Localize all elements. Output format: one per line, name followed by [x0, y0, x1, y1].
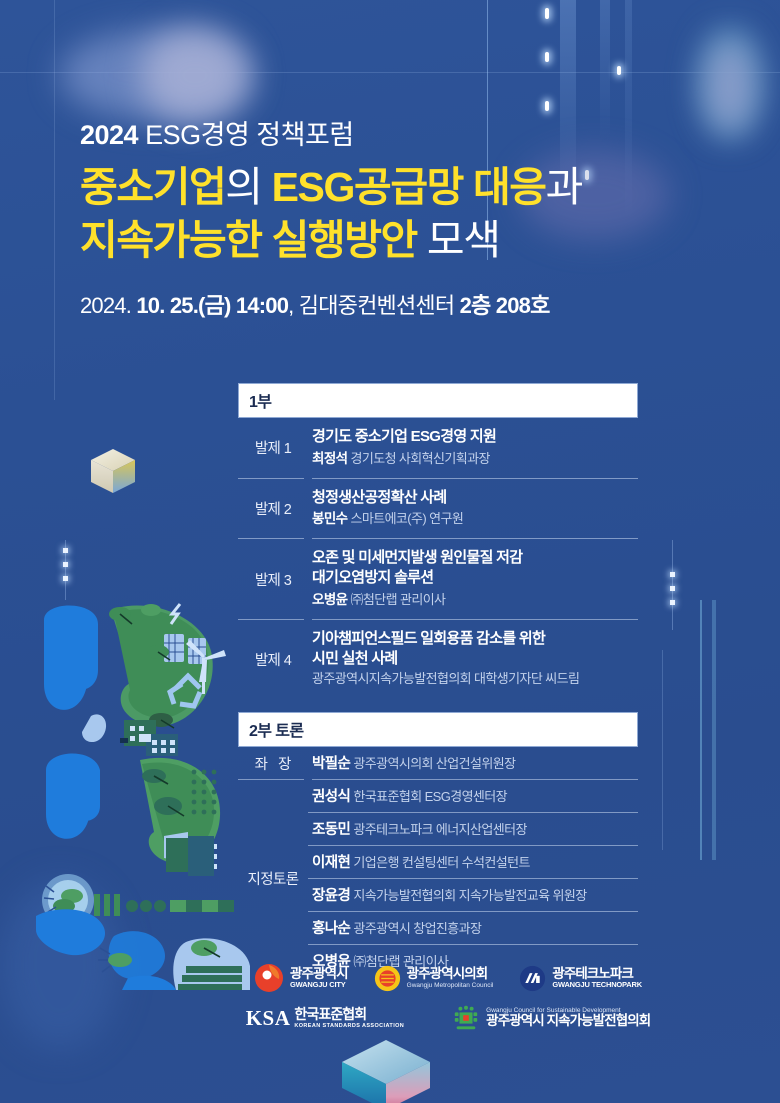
session-row: 발제 1 경기도 중소기업 ESG경영 지원 최정석 경기도청 사회혁신기획과장: [238, 418, 638, 478]
logo-name-en: KOREAN STANDARDS ASSOCIATION: [294, 1023, 404, 1029]
light-dot: [670, 572, 675, 577]
session-title: 청정생산공정확산 사례: [312, 488, 638, 508]
session-body: 경기도 중소기업 ESG경영 지원 최정석 경기도청 사회혁신기획과장: [308, 418, 638, 478]
session-label: 발제 2: [238, 498, 308, 519]
kicker-year: 2024: [80, 120, 138, 150]
logo-gwangju-council: 광주광역시의회 Gwangju Metropolitan Council: [374, 965, 494, 992]
session-label: 발제 1: [238, 437, 308, 458]
speaker-name: 봉민수: [312, 511, 347, 526]
panelist-affiliation: 광주테크노파크 에너지산업센터장: [353, 822, 526, 837]
session-title: 경기도 중소기업 ESG경영 지원: [312, 427, 638, 447]
logo-ksa: KSA 한국표준협회 KOREAN STANDARDS ASSOCIATION: [246, 1007, 404, 1028]
logo-name-kr: 광주광역시: [290, 967, 348, 982]
grid-line-vertical: [672, 540, 673, 630]
poster-root: 2024 ESG경영 정책포럼 중소기업의 ESG공급망 대응과 지속가능한 실…: [0, 0, 780, 1103]
grid-line-vertical: [662, 650, 663, 850]
eco-illustration: [36, 600, 251, 990]
chair-name: 박필순: [312, 756, 350, 772]
date-main: 10. 25.(금) 14:00: [136, 293, 288, 318]
grid-line-vertical: [65, 540, 66, 600]
poster-header: 2024 ESG경영 정책포럼 중소기업의 ESG공급망 대응과 지속가능한 실…: [80, 120, 720, 320]
chair-affiliation: 광주광역시의회 산업건설위원장: [353, 756, 515, 771]
logo-text-block: 광주광역시의회 Gwangju Metropolitan Council: [407, 967, 494, 989]
light-dot: [545, 52, 549, 62]
light-dot: [670, 586, 675, 591]
light-dot: [545, 8, 549, 19]
logo-name-en: Gwangju Metropolitan Council: [407, 982, 494, 989]
title-seg-1a: 중소기업: [80, 164, 225, 210]
grid-line-vertical: [54, 0, 55, 400]
panelist-name: 권성식: [312, 789, 350, 805]
panelist-row: 장윤경 지속가능발전협의회 지속가능발전교육 위원장: [308, 879, 638, 911]
soft-glow: [140, 28, 250, 123]
row-separator: [308, 911, 638, 912]
title-seg-2a: 지속가능한 실행방안: [80, 217, 417, 263]
gold-cube-icon: [86, 443, 140, 499]
speaker-name: 최정석: [312, 451, 347, 466]
session-body: 오존 및 미세먼지발생 원인물질 저감 대기오염방지 솔루션 오병윤 ㈜첨단랩 …: [308, 539, 638, 618]
soft-glow: [706, 40, 754, 132]
panelist-affiliation: 기업은행 컨설팅센터 수석컨설턴트: [353, 855, 529, 870]
session-body: 청정생산공정확산 사례 봉민수 스마트에코(주) 연구원: [308, 479, 638, 539]
panelist-affiliation: 광주광역시 창업진흥과장: [353, 921, 481, 936]
session-speaker: 오병윤 ㈜첨단랩 관리이사: [312, 591, 638, 609]
row-separator: [308, 944, 638, 945]
grid-line-vertical: [700, 600, 702, 860]
ksa-wordmark-icon: KSA 한국표준협회 KOREAN STANDARDS ASSOCIATION: [246, 1007, 404, 1028]
session-row: 발제 2 청정생산공정확산 사례 봉민수 스마트에코(주) 연구원: [238, 479, 638, 539]
logo-text-block: Gwangju Council for Sustainable Developm…: [486, 1007, 650, 1029]
panelist-row: 홍나순 광주광역시 창업진흥과장: [308, 912, 638, 944]
logo-row-secondary: KSA 한국표준협회 KOREAN STANDARDS ASSOCIATION: [238, 1004, 658, 1032]
title-seg-1b: 의: [225, 164, 261, 210]
logo-gwangju-technopark: 광주테크노파크 GWANGJU TECHNOPARK: [519, 965, 642, 992]
light-dot: [63, 576, 68, 581]
part1-header: 1부: [238, 383, 638, 418]
logo-footer: 광주광역시 GWANGJU CITY 광주광역시의회 Gwangju Metro…: [238, 963, 658, 1032]
logo-name-en: GWANGJU CITY: [290, 981, 348, 989]
logo-name-kr: 광주테크노파크: [552, 967, 642, 982]
logo-name-en: GWANGJU TECHNOPARK: [552, 981, 642, 989]
program-table: 1부 발제 1 경기도 중소기업 ESG경영 지원 최정석 경기도청 사회혁신기…: [238, 383, 638, 977]
event-datetime-venue: 2024. 10. 25.(금) 14:00, 김대중컨벤션센터 2층 208호: [80, 288, 720, 320]
session-row: 발제 3 오존 및 미세먼지발생 원인물질 저감 대기오염방지 솔루션 오병윤 …: [238, 539, 638, 618]
panelist-affiliation: 지속가능발전협의회 지속가능발전교육 위원장: [353, 888, 586, 903]
logo-row-primary: 광주광역시 GWANGJU CITY 광주광역시의회 Gwangju Metro…: [238, 963, 658, 993]
session-row: 발제 4 기아챔피언스필드 일회용품 감소를 위한 시민 실천 사례 광주광역시…: [238, 620, 638, 698]
grid-line-horizontal: [0, 72, 780, 73]
light-dot: [63, 548, 68, 553]
panel-label: 지정토론: [238, 780, 308, 977]
session-label: 발제 4: [238, 649, 308, 670]
speaker-affiliation: 스마트에코(주) 연구원: [350, 511, 463, 526]
discussion-section: 2부 토론 좌장 박필순 광주광역시의회 산업건설위원장 지정토론 권성식 한국…: [238, 712, 638, 977]
glass-cube-icon: [336, 1036, 436, 1103]
date-prefix: 2024.: [80, 293, 136, 318]
session-speaker: 봉민수 스마트에코(주) 연구원: [312, 510, 638, 528]
row-separator: [308, 845, 638, 846]
panelist-name: 이재현: [312, 855, 350, 871]
logo-gwangju-city: 광주광역시 GWANGJU CITY: [254, 963, 348, 993]
speaker-affiliation: 경기도청 사회혁신기획과장: [350, 451, 489, 466]
sustainable-council-icon: [452, 1004, 480, 1032]
session-label: 발제 3: [238, 569, 308, 590]
panelist-name: 조동민: [312, 822, 350, 838]
kicker-rest: ESG경영 정책포럼: [145, 120, 354, 150]
ksa-abbr: KSA: [246, 1008, 291, 1029]
title-line-1: 중소기업의 ESG공급망 대응과: [80, 161, 720, 213]
logo-name-kr: 광주광역시의회: [407, 967, 494, 982]
chair-row: 좌장 박필순 광주광역시의회 산업건설위원장: [238, 747, 638, 779]
light-dot: [63, 562, 68, 567]
title-seg-1d: 과: [546, 164, 582, 210]
session-title: 기아챔피언스필드 일회용품 감소를 위한 시민 실천 사례: [312, 629, 638, 669]
title-seg-2b: 모색: [427, 217, 500, 263]
speaker-affiliation: ㈜첨단랩 관리이사: [350, 592, 445, 607]
technopark-mark-icon: [519, 965, 546, 992]
page-title: 중소기업의 ESG공급망 대응과 지속가능한 실행방안 모색: [80, 161, 720, 266]
logo-name-kr: 광주광역시 지속가능발전협의회: [486, 1014, 650, 1029]
part2-header: 2부 토론: [238, 712, 638, 747]
soft-glow: [60, 30, 250, 120]
logo-sustainable-council: Gwangju Council for Sustainable Developm…: [452, 1004, 650, 1032]
speaker-affiliation: 광주광역시지속가능발전협의회 대학생기자단 씨드림: [312, 671, 579, 686]
row-separator: [308, 812, 638, 813]
logo-name-kr: 한국표준협회: [294, 1007, 404, 1022]
speaker-name: 오병윤: [312, 592, 347, 607]
chair-label: 좌장: [238, 753, 308, 774]
panelist-name: 홍나순: [312, 921, 350, 937]
session-speaker: 최정석 경기도청 사회혁신기획과장: [312, 450, 638, 468]
light-streak: [600, 0, 610, 140]
grid-line-vertical: [712, 600, 716, 860]
panel-block: 지정토론 권성식 한국표준협회 ESG경영센터장 조동민 광주테크노파크 에너지…: [238, 780, 638, 977]
row-separator: [308, 878, 638, 879]
session-speaker: 광주광역시지속가능발전협의회 대학생기자단 씨드림: [312, 671, 638, 688]
logo-text-block: 한국표준협회 KOREAN STANDARDS ASSOCIATION: [294, 1007, 404, 1028]
logo-text-block: 광주테크노파크 GWANGJU TECHNOPARK: [552, 967, 642, 990]
panelist-row: 이재현 기업은행 컨설팅센터 수석컨설턴트: [308, 846, 638, 878]
title-seg-1c: ESG공급망 대응: [272, 164, 546, 210]
chair-body: 박필순 광주광역시의회 산업건설위원장: [308, 747, 638, 779]
venue-room: 2층 208호: [460, 293, 550, 318]
light-dot: [545, 101, 549, 111]
panelist-row: 조동민 광주테크노파크 에너지산업센터장: [308, 813, 638, 845]
venue-name: , 김대중컨벤션센터: [288, 293, 459, 318]
session-body: 기아챔피언스필드 일회용품 감소를 위한 시민 실천 사례 광주광역시지속가능발…: [308, 620, 638, 698]
panelist-affiliation: 한국표준협회 ESG경영센터장: [353, 789, 507, 804]
panelist-row: 권성식 한국표준협회 ESG경영센터장: [308, 780, 638, 812]
panel-list: 권성식 한국표준협회 ESG경영센터장 조동민 광주테크노파크 에너지산업센터장…: [308, 780, 638, 977]
logo-text-block: 광주광역시 GWANGJU CITY: [290, 967, 348, 990]
gwangju-city-pinwheel-icon: [254, 963, 284, 993]
light-dot: [617, 66, 621, 75]
light-dot: [670, 600, 675, 605]
session-title: 오존 및 미세먼지발생 원인물질 저감 대기오염방지 솔루션: [312, 548, 638, 588]
gwangju-council-seal-icon: [374, 965, 401, 992]
panelist-name: 장윤경: [312, 888, 350, 904]
kicker-line: 2024 ESG경영 정책포럼: [80, 120, 720, 151]
title-line-2: 지속가능한 실행방안 모색: [80, 214, 720, 266]
